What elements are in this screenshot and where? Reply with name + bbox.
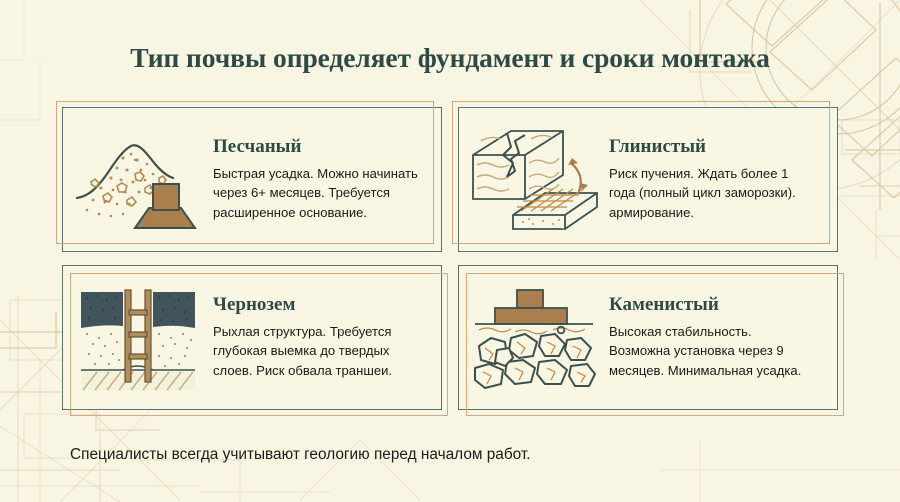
- card-heading-sandy: Песчаный: [213, 137, 431, 157]
- footer-note: Специалисты всегда учитывают геологию пе…: [70, 446, 531, 464]
- cracked-clay-block-rebar-slab-icon: [459, 120, 609, 240]
- card-rocky[interactable]: Каменистый Высокая стабильность. Возможн…: [458, 265, 838, 410]
- card-body-rocky: Высокая стабильность. Возможна установка…: [609, 322, 814, 380]
- card-heading-chernozem: Чернозем: [213, 295, 431, 315]
- card-body-chernozem: Рыхлая структура. Требуется глубокая вые…: [213, 322, 418, 380]
- page-title: Тип почвы определяет фундамент и сроки м…: [0, 42, 900, 74]
- sand-dune-foundation-icon: [63, 120, 213, 240]
- infographic-root: Тип почвы определяет фундамент и сроки м…: [0, 0, 900, 502]
- card-body-sandy: Быстрая усадка. Можно начинать через 6+ …: [213, 164, 418, 222]
- card-text-clay: Глинистый Риск пучения. Ждать более 1 го…: [609, 137, 837, 222]
- card-text-rocky: Каменистый Высокая стабильность. Возможн…: [609, 295, 837, 380]
- stone-bedrock-footing-icon: [459, 278, 609, 398]
- soil-type-card-grid: Песчаный Быстрая усадка. Можно начинать …: [62, 107, 838, 410]
- card-text-chernozem: Чернозем Рыхлая структура. Требуется глу…: [213, 295, 441, 380]
- card-heading-rocky: Каменистый: [609, 295, 827, 315]
- soil-layers-trench-ladder-icon: [63, 278, 213, 398]
- card-text-sandy: Песчаный Быстрая усадка. Можно начинать …: [213, 137, 441, 222]
- card-clay[interactable]: Глинистый Риск пучения. Ждать более 1 го…: [458, 107, 838, 252]
- card-sandy[interactable]: Песчаный Быстрая усадка. Можно начинать …: [62, 107, 442, 252]
- card-heading-clay: Глинистый: [609, 137, 827, 157]
- card-body-clay: Риск пучения. Ждать более 1 года (полный…: [609, 164, 814, 222]
- card-chernozem[interactable]: Чернозем Рыхлая структура. Требуется глу…: [62, 265, 442, 410]
